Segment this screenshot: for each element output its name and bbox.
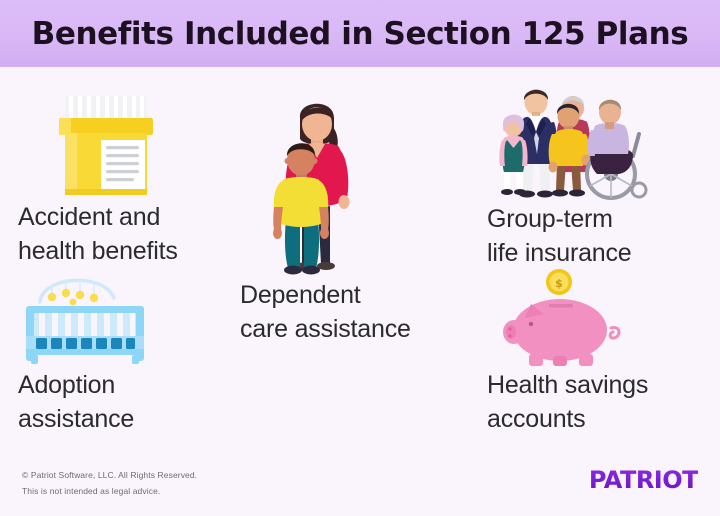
benefit-label-accident: Accident and health benefits (18, 200, 253, 268)
piggy-bank-icon: $ (487, 268, 712, 368)
benefit-item-grouplife: Group-term life insurance (487, 82, 712, 270)
pill-bottle-icon (18, 88, 253, 200)
benefit-label-grouplife: Group-term life insurance (487, 202, 712, 270)
benefit-label-hsa: Health savings accounts (487, 368, 712, 436)
baby-crib-icon (18, 268, 253, 368)
benefit-label-dependent: Dependent care assistance (240, 278, 470, 346)
page-title: Benefits Included in Section 125 Plans (0, 0, 720, 67)
benefit-item-dependent: Dependent care assistance (240, 88, 470, 346)
parent-and-child-icon (240, 88, 470, 278)
benefit-item-accident: Accident and health benefits (18, 88, 253, 268)
footer-copyright: © Patriot Software, LLC. All Rights Rese… (22, 468, 197, 484)
svg-text:$: $ (555, 277, 563, 290)
family-group-icon (487, 82, 712, 202)
footer-legal: © Patriot Software, LLC. All Rights Rese… (22, 468, 197, 499)
patriot-logo: PATRIOT (589, 466, 698, 494)
infographic-canvas: Benefits Included in Section 125 Plans (0, 0, 720, 516)
benefit-item-adoption: Adoption assistance (18, 268, 253, 436)
benefit-item-hsa: $ Health savi (487, 268, 712, 436)
benefit-label-adoption: Adoption assistance (18, 368, 253, 436)
footer-disclaimer: This is not intended as legal advice. (22, 484, 197, 500)
